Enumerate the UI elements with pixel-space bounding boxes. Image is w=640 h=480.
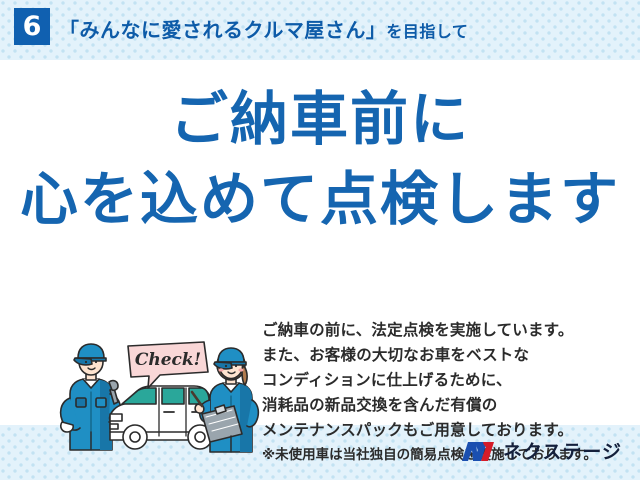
check-bubble-label: Check!: [135, 350, 201, 370]
brand-logo: ネクステージ: [461, 437, 622, 464]
nextage-n-mark-icon: [461, 439, 495, 463]
brand-logo-text: ネクステージ: [503, 437, 622, 464]
header-title: 「みんなに愛されるクルマ屋さん」を目指して: [59, 14, 468, 43]
header-title-quoted: 「みんなに愛されるクルマ屋さん」: [59, 18, 386, 42]
body-line: ご納車の前に、法定点検を実施しています。: [262, 318, 632, 343]
content-card: ご納車前に 心を込めて点検します ご納車の前に、法定点検を実施しています。 また…: [0, 60, 640, 425]
footer: ネクステージ: [0, 425, 640, 480]
body-line: 消耗品の新品交換を含んだ有償の: [262, 393, 632, 418]
section-number-badge: 6: [14, 8, 50, 45]
headline-line-1: ご納車前に: [0, 90, 640, 148]
header-title-tail: を目指して: [386, 22, 468, 41]
body-line: また、お客様の大切なお車をベストな: [262, 343, 632, 368]
body-line: コンディションに仕上げるために、: [262, 368, 632, 393]
section-number-label: 6: [23, 13, 42, 40]
page-root: 6 「みんなに愛されるクルマ屋さん」を目指して ご納車前に 心を込めて点検します…: [0, 0, 640, 480]
headline-line-2: 心を込めて点検します: [0, 170, 640, 228]
header: 6 「みんなに愛されるクルマ屋さん」を目指して: [0, 0, 640, 60]
